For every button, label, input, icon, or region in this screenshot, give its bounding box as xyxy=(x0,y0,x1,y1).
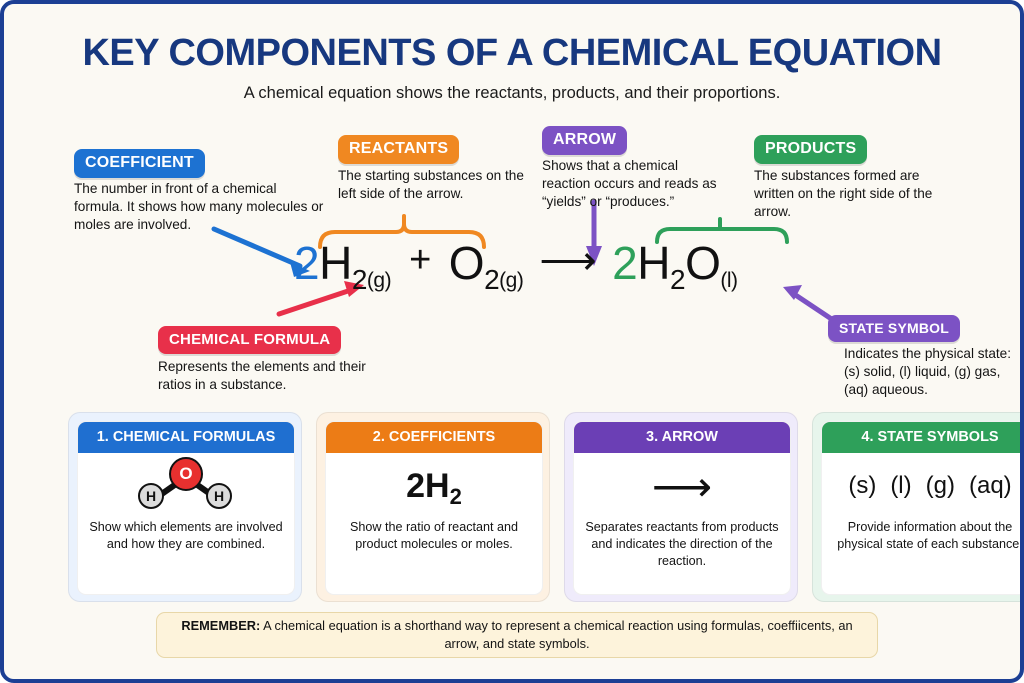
card-title-coefficients: 2. COEFFICIENTS xyxy=(326,422,542,453)
equation-reaction-arrow: ⟶ xyxy=(539,238,596,284)
reactant-2-element: O xyxy=(449,236,484,290)
reactant-1-state: (g) xyxy=(367,269,391,293)
product-coefficient: 2 xyxy=(612,236,637,290)
callout-pill-coefficient[interactable]: COEFFICIENT xyxy=(74,149,205,178)
card-visual-formula: 2H2 xyxy=(326,453,542,519)
chemical-equation: 2H2(g) + O2(g) ⟶ 2H2O(l) xyxy=(294,236,814,306)
state-symbol-solid: (s) xyxy=(848,472,876,500)
callout-description-state-symbol: Indicates the physical state: (s) solid,… xyxy=(844,345,1020,399)
state-symbol-gas: (g) xyxy=(926,472,955,500)
card-body: 1. CHEMICAL FORMULAS O H H Show which el… xyxy=(77,421,295,595)
remember-label: REMEMBER: xyxy=(181,618,260,633)
card-visual-arrow: ⟶ xyxy=(574,453,790,519)
callout-pill-chemical-formula[interactable]: CHEMICAL FORMULA xyxy=(158,326,341,354)
reactant-2-state: (g) xyxy=(499,269,523,293)
remember-banner: REMEMBER: A chemical equation is a short… xyxy=(156,612,878,658)
atom-oxygen: O xyxy=(169,457,203,491)
formula-subscript: 2 xyxy=(450,484,462,509)
card-arrow[interactable]: 3. ARROW ⟶ Separates reactants from prod… xyxy=(564,412,798,602)
callout-description-reactants: The starting substances on the left side… xyxy=(338,167,538,203)
card-body: 4. STATE SYMBOLS (s) (l) (g) (aq) Provid… xyxy=(821,421,1024,595)
product-subscript: 2 xyxy=(670,264,685,296)
callout-pill-products[interactable]: PRODUCTS xyxy=(754,135,867,164)
callout-description-arrow: Shows that a chemical reaction occurs an… xyxy=(542,157,722,211)
card-visual-states: (s) (l) (g) (aq) xyxy=(822,453,1024,519)
card-coefficients[interactable]: 2. COEFFICIENTS 2H2 Show the ratio of re… xyxy=(316,412,550,602)
atom-hydrogen-left: H xyxy=(138,483,164,509)
callout-pill-arrow[interactable]: ARROW xyxy=(542,126,627,155)
card-text-arrow: Separates reactants from products and in… xyxy=(574,519,790,570)
card-text-coefficients: Show the ratio of reactant and product m… xyxy=(326,519,542,553)
equation-plus-operator: + xyxy=(409,239,431,282)
card-text-state-symbols: Provide information about the physical s… xyxy=(822,519,1024,553)
card-visual-molecule: O H H xyxy=(78,453,294,519)
atom-hydrogen-right: H xyxy=(206,483,232,509)
reactant-2-subscript: 2 xyxy=(484,264,499,296)
formula-coefficient: 2 xyxy=(406,467,425,505)
card-title-state-symbols: 4. STATE SYMBOLS xyxy=(822,422,1024,453)
callout-pill-reactants[interactable]: REACTANTS xyxy=(338,135,459,164)
card-title-arrow: 3. ARROW xyxy=(574,422,790,453)
equation-product: 2H2O(l) xyxy=(612,236,737,290)
state-symbol-liquid: (l) xyxy=(890,472,911,500)
state-symbols-row: (s) (l) (g) (aq) xyxy=(848,472,1011,500)
reaction-arrow-glyph: ⟶ xyxy=(652,462,712,511)
reactant-1-subscript: 2 xyxy=(352,264,367,296)
callout-description-products: The substances formed are written on the… xyxy=(754,167,934,221)
reactant-1-coefficient: 2 xyxy=(294,236,319,290)
callout-pill-state-symbol[interactable]: STATE SYMBOL xyxy=(828,315,960,342)
infographic-poster: KEY COMPONENTS OF A CHEMICAL EQUATION A … xyxy=(0,0,1024,683)
state-symbol-aqueous: (aq) xyxy=(969,472,1012,500)
card-title-chemical-formulas: 1. CHEMICAL FORMULAS xyxy=(78,422,294,453)
remember-body: A chemical equation is a shorthand way t… xyxy=(260,618,852,651)
formula-element: H xyxy=(425,467,450,505)
card-body: 3. ARROW ⟶ Separates reactants from prod… xyxy=(573,421,791,595)
page-title: KEY COMPONENTS OF A CHEMICAL EQUATION xyxy=(4,32,1020,75)
card-body: 2. COEFFICIENTS 2H2 Show the ratio of re… xyxy=(325,421,543,595)
reactant-1-element: H xyxy=(319,236,352,290)
callout-description-coefficient: The number in front of a chemical formul… xyxy=(74,180,324,234)
water-molecule-diagram: O H H xyxy=(126,455,246,517)
remember-text: REMEMBER: A chemical equation is a short… xyxy=(175,617,859,653)
equation-reactant-1: 2H2(g) xyxy=(294,236,391,290)
product-element-2: O xyxy=(685,236,720,290)
callout-description-chemical-formula: Represents the elements and their ratios… xyxy=(158,358,388,394)
equation-reactant-2: O2(g) xyxy=(449,236,524,290)
card-chemical-formulas[interactable]: 1. CHEMICAL FORMULAS O H H Show which el… xyxy=(68,412,302,602)
card-text-chemical-formulas: Show which elements are involved and how… xyxy=(78,519,294,553)
formula-2h2: 2H2 xyxy=(406,467,462,506)
product-state: (l) xyxy=(720,269,737,293)
card-state-symbols[interactable]: 4. STATE SYMBOLS (s) (l) (g) (aq) Provid… xyxy=(812,412,1024,602)
product-element-1: H xyxy=(637,236,670,290)
page-subtitle: A chemical equation shows the reactants,… xyxy=(4,84,1020,103)
